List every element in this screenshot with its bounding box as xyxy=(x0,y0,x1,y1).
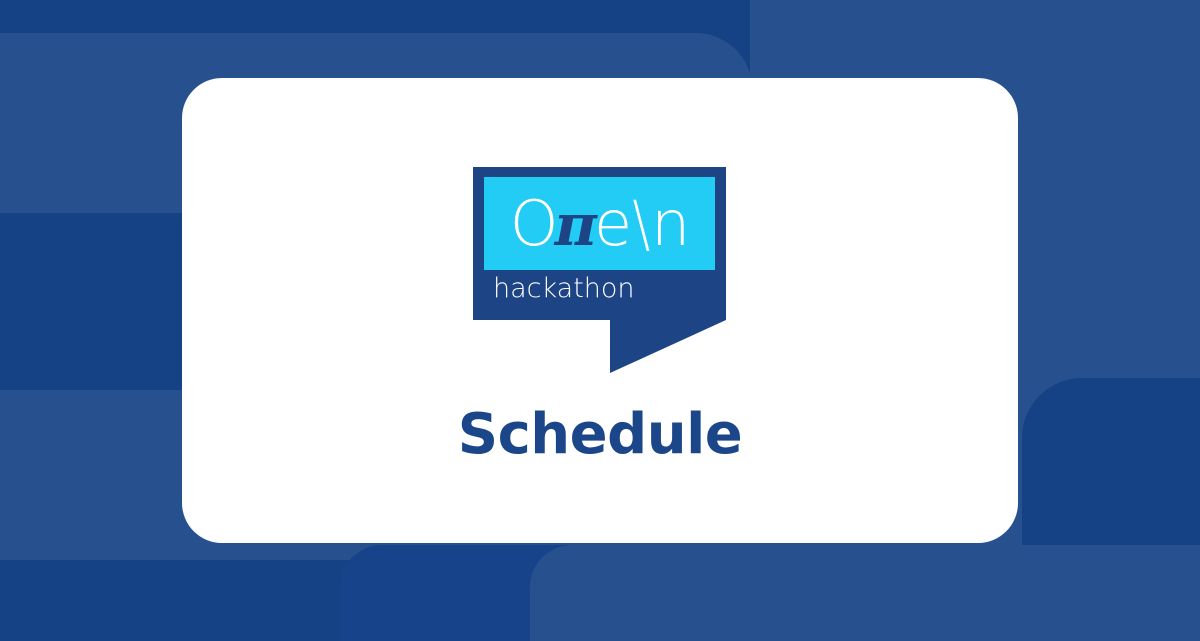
logo-speech-bubble: Oπe\n hackathon xyxy=(473,167,726,320)
page-title: Schedule xyxy=(182,404,1018,466)
logo-subtitle: hackathon xyxy=(493,275,635,302)
logo-bubble-tail xyxy=(610,320,726,373)
content-card: Oπe\n hackathon Schedule xyxy=(182,78,1018,543)
logo-backslash: \ xyxy=(633,193,650,255)
logo-screen-panel: Oπe\n xyxy=(484,177,715,270)
logo-letter-o: O xyxy=(510,193,558,255)
logo-letter-n: n xyxy=(651,193,689,255)
bg-bottom-light-block xyxy=(530,545,1200,641)
slide-canvas: Oπe\n hackathon Schedule xyxy=(0,0,1200,641)
logo-letter-e: e xyxy=(594,193,631,255)
open-hackathon-logo: Oπe\n hackathon xyxy=(473,167,726,373)
logo-pi-symbol: π xyxy=(555,196,596,254)
logo-wordmark: Oπe\n xyxy=(510,193,690,255)
